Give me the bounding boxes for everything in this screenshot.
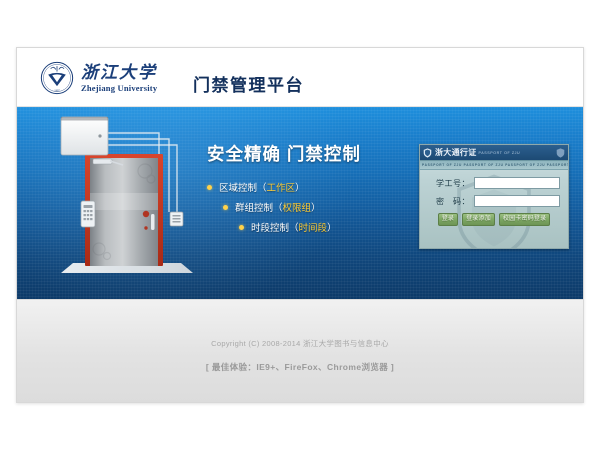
door-handle (151, 214, 155, 230)
feature-label: 群组控制（ (235, 200, 283, 214)
bullet-dot-icon (207, 185, 212, 190)
feature-label: 时段控制（ (251, 220, 299, 234)
student-staff-id-label: 学工号： (428, 178, 474, 189)
feature-accent: 时间段 (299, 220, 328, 234)
logo-name-en: Zhejiang University (81, 84, 157, 93)
shield-icon-secondary (556, 148, 565, 158)
hero-banner: 安全精确 门禁控制 区域控制（工作区） 群组控制（权限组） 时段控制（时间段） (17, 107, 583, 299)
site-card: 1897 浙江大学 Zhejiang University 门禁管理平台 (16, 47, 584, 403)
site-footer: Copyright (C) 2008-2014 浙江大学图书与信息中心 [ 最佳… (17, 299, 583, 403)
login-form: 学工号： 密 码： (420, 170, 568, 207)
passport-title-en: PASSPORT OF ZJU (479, 151, 521, 155)
campus-card-login-button[interactable]: 校园卡密码登录 (499, 213, 550, 226)
passport-titlebar: 浙大通行证 PASSPORT OF ZJU (420, 145, 568, 160)
login-panel: 浙大通行证 PASSPORT OF ZJU PASSPORT OF ZJU PA… (419, 144, 569, 249)
page-canvas: 1897 浙江大学 Zhejiang University 门禁管理平台 (0, 0, 600, 450)
form-row-student-staff-id: 学工号： (428, 177, 560, 189)
footer-browser-support: [ 最佳体验：IE9+、FireFox、Chrome浏览器 ] (17, 361, 583, 373)
bullet-dot-icon (223, 205, 228, 210)
login-add-button[interactable]: 登录添加 (462, 213, 495, 226)
feature-tail: ） (327, 220, 337, 234)
logo-wordmark: 浙江大学 Zhejiang University (81, 64, 157, 93)
feature-tail: ） (311, 200, 321, 214)
passport-title-cn: 浙大通行证 (435, 147, 477, 158)
hero-headline: 安全精确 门禁控制 (207, 141, 417, 166)
login-button[interactable]: 登录 (438, 213, 458, 226)
footer-copyright: Copyright (C) 2008-2014 浙江大学图书与信息中心 (17, 338, 583, 349)
door-closer (93, 159, 112, 164)
feature-accent: 权限组 (283, 200, 312, 214)
site-logo[interactable]: 1897 浙江大学 Zhejiang University (40, 61, 157, 95)
hero-feature-list: 区域控制（工作区） 群组控制（权限组） 时段控制（时间段） (207, 180, 417, 234)
student-staff-id-field[interactable] (474, 177, 560, 189)
feature-item-group-control: 群组控制（权限组） (207, 200, 417, 214)
shield-icon (423, 148, 432, 158)
bullet-dot-icon (239, 225, 244, 230)
password-field[interactable] (474, 195, 560, 207)
access-control-door-illustration (47, 109, 207, 294)
passport-guilloche-strip: PASSPORT OF ZJU PASSPORT OF ZJU PASSPORT… (420, 160, 568, 170)
page-title: 门禁管理平台 (193, 71, 304, 96)
feature-item-area-control: 区域控制（工作区） (207, 180, 417, 194)
hero-copy: 安全精确 门禁控制 区域控制（工作区） 群组控制（权限组） 时段控制（时间段） (207, 141, 417, 250)
password-label: 密 码： (428, 196, 474, 207)
site-header: 1897 浙江大学 Zhejiang University 门禁管理平台 (17, 48, 583, 107)
login-actions: 登录 登录添加 校园卡密码登录 (420, 213, 568, 226)
guilloche-text: PASSPORT OF ZJU PASSPORT OF ZJU PASSPORT… (420, 163, 568, 167)
logo-name-cn: 浙江大学 (81, 64, 157, 81)
feature-label: 区域控制（ (219, 180, 267, 194)
feature-item-time-control: 时段控制（时间段） (207, 220, 417, 234)
form-row-password: 密 码： (428, 195, 560, 207)
feature-accent: 工作区 (267, 180, 296, 194)
feature-tail: ） (295, 180, 305, 194)
zju-emblem-icon: 1897 (40, 61, 74, 95)
svg-text:1897: 1897 (54, 89, 60, 92)
